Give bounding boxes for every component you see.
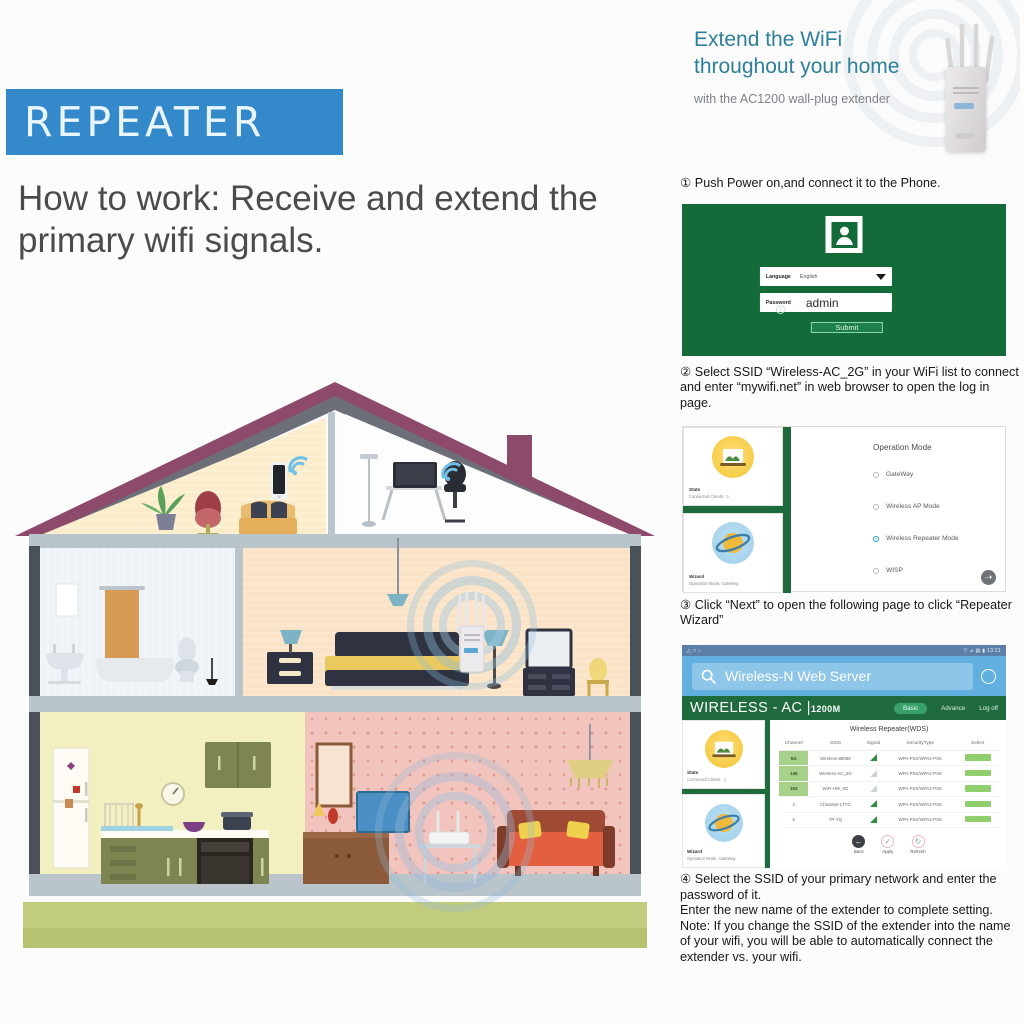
refresh-circle-icon: ↻ bbox=[912, 835, 925, 848]
left-column: REPEATER How to work: Receive and extend… bbox=[0, 0, 668, 1024]
sidebar-item-wizard[interactable]: Wizard Operation Mode, GateWay bbox=[682, 794, 765, 868]
language-value: English bbox=[800, 274, 818, 280]
wifi-signal-icon-tv bbox=[440, 462, 462, 482]
router-brand-label: WIRELESS - AC | bbox=[690, 700, 811, 716]
wifi-extender-device-bedroom bbox=[452, 590, 492, 678]
router-admin-body: Stats Connected Clients : 1 Wizard Opera… bbox=[682, 720, 1006, 868]
signal-bars-icon bbox=[870, 800, 877, 807]
radio-wisp[interactable]: WISP bbox=[873, 567, 903, 574]
table-header-row: Channel SSID Signal SecurityType Select bbox=[779, 739, 999, 751]
next-arrow-icon[interactable]: ➝ bbox=[981, 570, 996, 585]
table-row[interactable]: 2 ChinaNet-LTTG WPA-PSK/WPA2-PSK bbox=[779, 797, 999, 812]
opmode-card-wizard-caption2: Operation Mode, GateWay bbox=[689, 581, 739, 586]
refresh-circle-icon[interactable] bbox=[981, 669, 996, 684]
step-1-text: ① Push Power on,and connect it to the Ph… bbox=[680, 176, 1020, 191]
router-header-bar: WIRELESS - AC |1200M Basic Advance Log o… bbox=[682, 696, 1006, 720]
globe-badge-icon bbox=[712, 522, 754, 564]
hero-title-line2: throughout your home bbox=[694, 55, 899, 78]
radio-icon-selected[interactable] bbox=[873, 536, 879, 542]
col-channel: Channel bbox=[779, 739, 808, 751]
extender-product-photo bbox=[932, 22, 1002, 152]
midfloor-furniture bbox=[15, 538, 655, 708]
attic-furniture bbox=[15, 378, 655, 538]
select-button bbox=[965, 785, 991, 792]
sidebar-item-stats[interactable]: Stats Connected Clients : 1 bbox=[682, 720, 765, 789]
repeater-banner: REPEATER bbox=[6, 89, 343, 155]
cell-ssid: WiFi-HW_5G bbox=[808, 781, 862, 796]
nav-advance[interactable]: Advance bbox=[941, 705, 965, 712]
radio-icon[interactable] bbox=[873, 472, 879, 478]
router-sidebar: Stats Connected Clients : 1 Wizard Opera… bbox=[682, 720, 770, 868]
radio-wireless-repeater-mode-label: Wireless Repeater Mode bbox=[886, 535, 959, 542]
opmode-card-wizard[interactable]: Wizard Operation Mode, GateWay bbox=[683, 513, 783, 593]
search-input-value: Wireless-N Web Server bbox=[725, 668, 871, 684]
col-select: Select bbox=[956, 739, 999, 751]
cell-signal bbox=[862, 781, 884, 796]
cell-select[interactable] bbox=[956, 781, 999, 796]
opmode-card-stats[interactable]: Stats Connected Clients : 1 bbox=[683, 427, 783, 506]
house-illustration bbox=[15, 378, 655, 948]
nav-logoff[interactable]: Log off bbox=[979, 705, 998, 712]
radio-gateway-label: GateWay bbox=[886, 471, 913, 478]
cell-signal bbox=[862, 766, 884, 781]
check-circle-icon: ✓ bbox=[881, 835, 894, 848]
radio-wireless-repeater-mode[interactable]: Wireless Repeater Mode bbox=[873, 535, 959, 542]
wifi-coverage-ring-6 bbox=[415, 792, 495, 872]
col-signal: Signal bbox=[862, 739, 884, 751]
radio-wireless-ap-mode[interactable]: Wireless AP Mode bbox=[873, 503, 940, 510]
cell-security: WPA-PSK/WPA2-PSK bbox=[884, 812, 956, 827]
opmode-card-stats-caption: Stats bbox=[689, 487, 700, 492]
chevron-down-icon[interactable] bbox=[876, 274, 886, 280]
search-input[interactable]: Wireless-N Web Server bbox=[692, 663, 973, 690]
cell-signal bbox=[862, 751, 884, 766]
groundfloor-furniture bbox=[15, 704, 655, 884]
cell-ssid: Wireless-AC_5G bbox=[808, 766, 862, 781]
radio-gateway[interactable]: GateWay bbox=[873, 471, 913, 478]
cell-security: WPA-PSK/WPA2-PSK bbox=[884, 766, 956, 781]
cell-ssid: TP-YQ bbox=[808, 812, 862, 827]
wifi-signal-icon-phone bbox=[287, 456, 309, 476]
cell-channel: 6 bbox=[779, 812, 808, 827]
cell-select[interactable] bbox=[956, 766, 999, 781]
sidebar-item-stats-caption: Stats bbox=[687, 770, 698, 775]
opmode-card-wizard-caption: Wizard bbox=[689, 574, 704, 579]
wireless-repeater-table: Channel SSID Signal SecurityType Select … bbox=[779, 739, 999, 828]
cell-security: WPA-PSK/WPA2-PSK bbox=[884, 797, 956, 812]
globe-badge-icon bbox=[705, 804, 743, 842]
table-title: Wireless Repeater(WDS) bbox=[779, 726, 999, 733]
phone-status-right: ▽ ⊿ ▤ ▮ 13:21 bbox=[964, 648, 1001, 654]
router-brand-speed: 1200M bbox=[811, 704, 841, 714]
sidebar-item-wizard-caption2: Operation Mode, GateWay bbox=[687, 856, 736, 861]
select-button bbox=[965, 816, 991, 823]
signal-bars-icon bbox=[870, 770, 877, 777]
radio-wireless-ap-mode-label: Wireless AP Mode bbox=[886, 503, 940, 510]
password-value: admin bbox=[806, 296, 839, 310]
product-hero: Extend the WiFi throughout your home wit… bbox=[680, 0, 1020, 168]
cell-select[interactable] bbox=[956, 797, 999, 812]
info-icon[interactable]: i bbox=[776, 305, 785, 314]
radio-wisp-label: WISP bbox=[886, 567, 903, 574]
col-ssid: SSID bbox=[808, 739, 862, 751]
phone-status-bar: △ □ ○ ▽ ⊿ ▤ ▮ 13:21 bbox=[682, 645, 1006, 656]
cell-select[interactable] bbox=[956, 751, 999, 766]
back-button[interactable]: ← Back bbox=[852, 835, 865, 854]
select-button bbox=[965, 754, 991, 761]
operation-mode-screen: Stats Connected Clients : 1 Wizard Opera… bbox=[682, 426, 1006, 592]
cell-security: WPA-PSK/WPA2-PSK bbox=[884, 781, 956, 796]
router-login-screen: Language English Password admin i Submit bbox=[682, 204, 1006, 356]
step-4-text: ④ Select the SSID of your primary networ… bbox=[680, 872, 1020, 966]
back-button-label: Back bbox=[852, 849, 865, 854]
router-nav: Basic Advance Log off bbox=[894, 703, 998, 714]
cell-signal bbox=[862, 797, 884, 812]
cell-channel: 153 bbox=[779, 781, 808, 796]
select-button bbox=[965, 770, 991, 777]
page-headline: How to work: Receive and extend the prim… bbox=[18, 178, 648, 262]
sidebar-item-wizard-caption: Wizard bbox=[687, 849, 702, 854]
step-2-text: ② Select SSID “Wireless-AC_2G” in your W… bbox=[680, 365, 1022, 411]
nav-basic[interactable]: Basic bbox=[894, 703, 927, 714]
sidebar-item-stats-caption2: Connected Clients : 1 bbox=[687, 777, 726, 782]
cell-security: WPA-PSK/WPA2-PSK bbox=[884, 751, 956, 766]
language-select[interactable]: Language English bbox=[760, 267, 892, 286]
panel-divider-horizontal bbox=[683, 506, 791, 513]
operation-mode-title: Operation Mode bbox=[873, 443, 932, 452]
col-security: SecurityType bbox=[884, 739, 956, 751]
hero-title: Extend the WiFi throughout your home bbox=[694, 26, 899, 80]
user-avatar-icon bbox=[826, 216, 863, 253]
right-column: Extend the WiFi throughout your home wit… bbox=[668, 0, 1024, 1024]
back-arrow-icon: ← bbox=[852, 835, 865, 848]
password-label: Password bbox=[766, 300, 800, 306]
phone-status-left: △ □ ○ bbox=[687, 648, 701, 654]
opmode-card-stats-caption2: Connected Clients : 1 bbox=[689, 494, 729, 499]
radio-icon[interactable] bbox=[873, 568, 879, 574]
cell-channel: 149 bbox=[779, 766, 808, 781]
refresh-button[interactable]: ↻ Refresh bbox=[910, 835, 925, 854]
language-label: Language bbox=[766, 274, 800, 280]
browser-search-bar[interactable]: Wireless-N Web Server bbox=[682, 656, 1006, 696]
select-button bbox=[965, 801, 991, 808]
signal-bars-icon bbox=[870, 816, 877, 823]
table-row[interactable]: 149 Wireless-AC_5G WPA-PSK/WPA2-PSK bbox=[779, 766, 999, 781]
router-admin-screen: △ □ ○ ▽ ⊿ ▤ ▮ 13:21 Wireless-N Web Serve… bbox=[682, 645, 1006, 868]
repeater-instruction-page: REPEATER How to work: Receive and extend… bbox=[0, 0, 1024, 1024]
table-row[interactable]: 5G Wireless-88888 WPA-PSK/WPA2-PSK bbox=[779, 751, 999, 766]
cell-select[interactable] bbox=[956, 812, 999, 827]
signal-bars-icon bbox=[870, 785, 877, 792]
cell-channel: 2 bbox=[779, 797, 808, 812]
repeater-banner-label: REPEATER bbox=[24, 98, 265, 146]
router-brand: WIRELESS - AC |1200M bbox=[690, 700, 841, 716]
step-3-text: ③ Click “Next” to open the following pag… bbox=[680, 598, 1022, 629]
cell-ssid: ChinaNet-LTTG bbox=[808, 797, 862, 812]
hero-subtitle: with the AC1200 wall-plug extender bbox=[694, 92, 890, 106]
apply-button-label: Apply bbox=[881, 849, 894, 854]
laptop-badge-icon bbox=[712, 436, 754, 478]
router-main-content: Wireless Repeater(WDS) Channel SSID Sign… bbox=[770, 720, 1006, 868]
refresh-button-label: Refresh bbox=[910, 849, 925, 854]
cell-signal bbox=[862, 812, 884, 827]
cell-ssid: Wireless-88888 bbox=[808, 751, 862, 766]
signal-bars-icon bbox=[870, 754, 877, 761]
table-row[interactable]: 6 TP-YQ WPA-PSK/WPA2-PSK bbox=[779, 812, 999, 827]
laptop-badge-icon bbox=[705, 730, 743, 768]
apply-button[interactable]: ✓ Apply bbox=[881, 835, 894, 854]
table-actions: ← Back ✓ Apply ↻ Refresh bbox=[779, 835, 999, 854]
cell-channel: 5G bbox=[779, 751, 808, 766]
search-icon bbox=[701, 669, 716, 684]
submit-button[interactable]: Submit bbox=[811, 322, 883, 333]
table-row[interactable]: 153 WiFi-HW_5G WPA-PSK/WPA2-PSK bbox=[779, 781, 999, 796]
lawn-shadow bbox=[23, 928, 647, 948]
hero-title-line1: Extend the WiFi bbox=[694, 28, 842, 51]
radio-icon[interactable] bbox=[873, 504, 879, 510]
